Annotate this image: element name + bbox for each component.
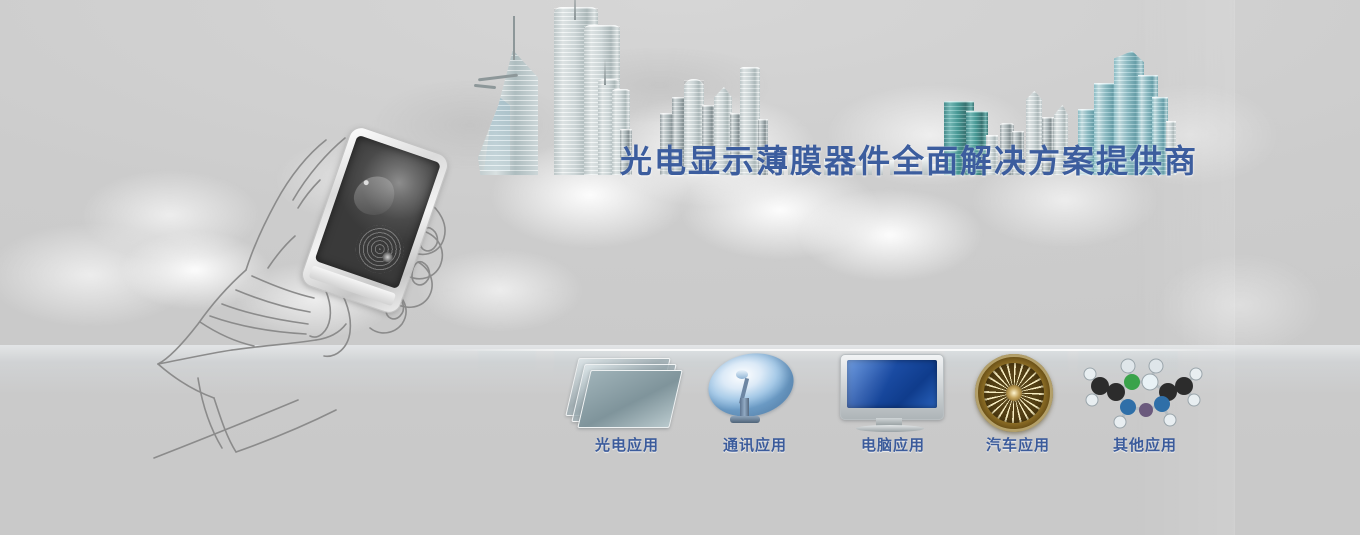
molecule-model-icon — [1070, 352, 1220, 430]
application-label: 通讯应用 — [680, 434, 830, 455]
application-item-other[interactable]: 其他应用 — [1070, 352, 1220, 455]
application-label: 其他应用 — [1070, 434, 1220, 455]
satellite-dish-icon — [680, 352, 830, 430]
sail-tower-icon — [478, 50, 538, 175]
screen-ripple-graphic — [349, 219, 410, 280]
molecule-svg — [1070, 352, 1220, 430]
screen-swirl-graphic — [349, 170, 399, 220]
application-icons-row: 光电应用 通讯应用 电脑应用 — [0, 352, 1360, 472]
application-item-communication[interactable]: 通讯应用 — [680, 352, 830, 455]
horizon-line — [440, 349, 1240, 351]
banner-stage: 光电显示薄膜器件全面解决方案提供商 光电应用 通讯应用 — [0, 0, 1360, 535]
page-title: 光电显示薄膜器件全面解决方案提供商 — [620, 141, 1198, 181]
